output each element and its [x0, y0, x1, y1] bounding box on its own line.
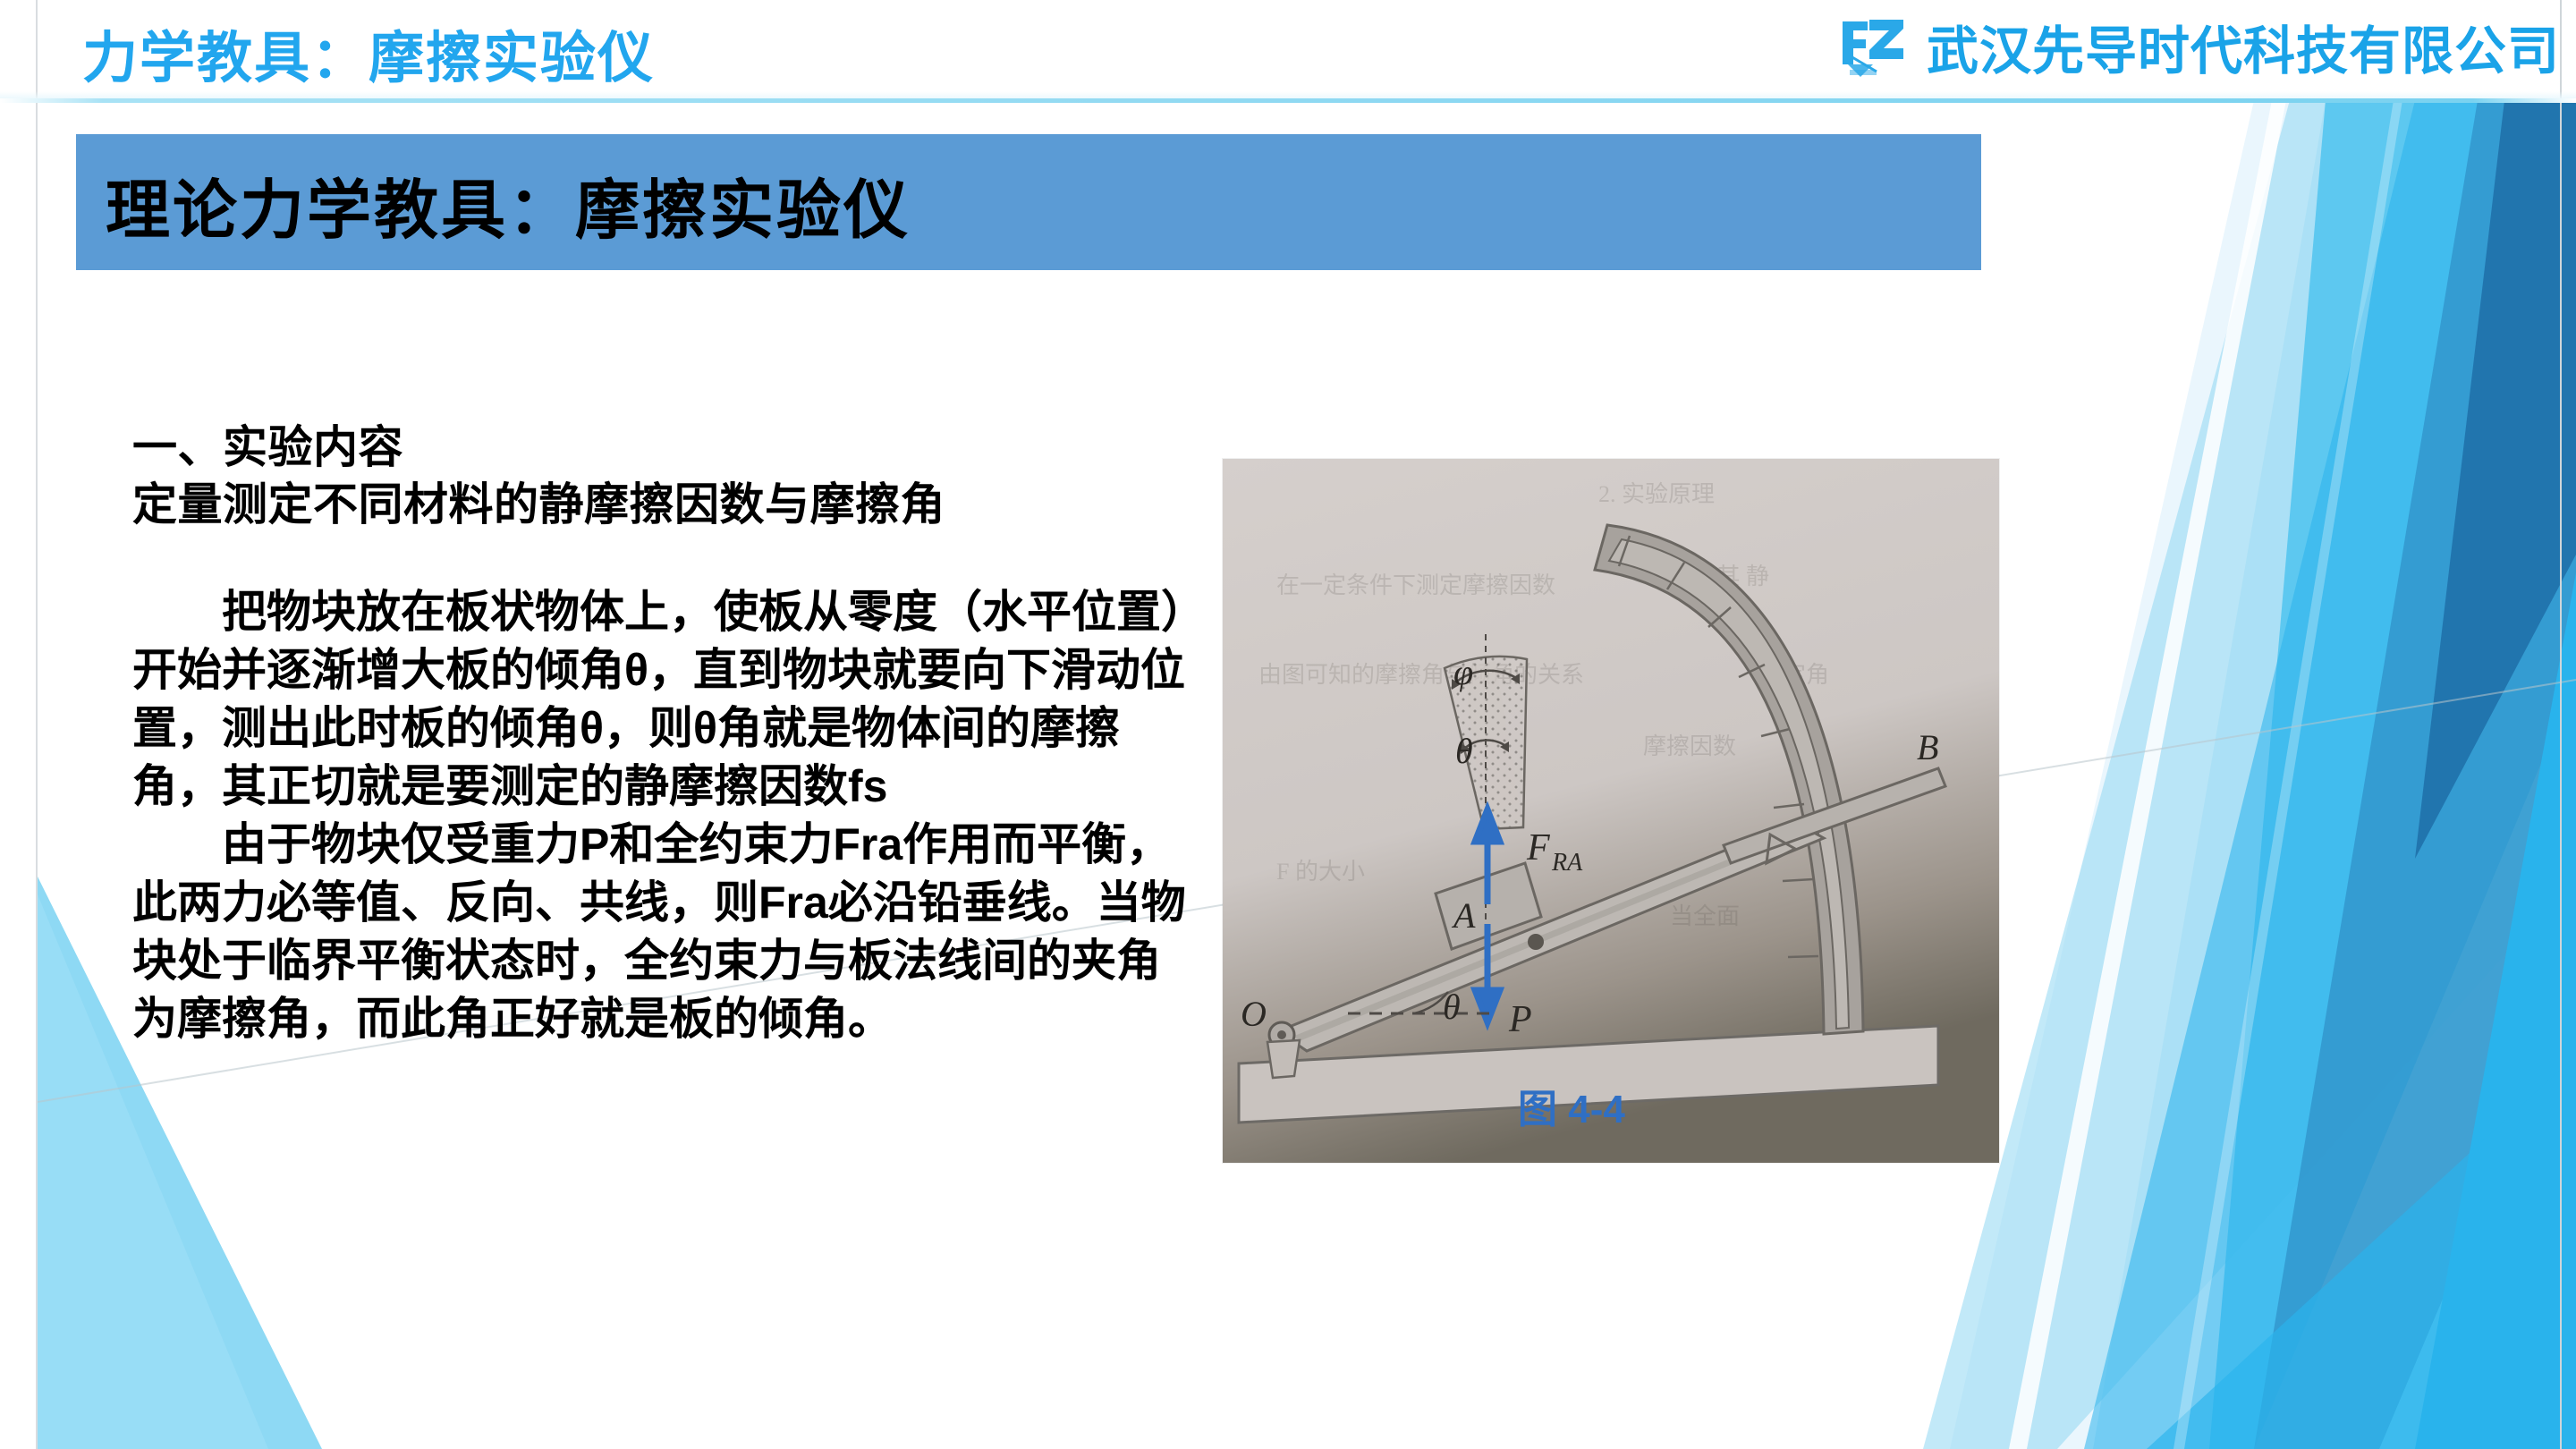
- svg-text:F 的大小: F 的大小: [1276, 859, 1365, 885]
- svg-text:图 4-4: 图 4-4: [1518, 1088, 1625, 1131]
- figure-label-FRA: F: [1526, 827, 1550, 869]
- section-heading-block: 一、实验内容 定量测定不同材料的静摩擦因数与摩擦角: [132, 419, 1188, 533]
- background-polygons-right: [1923, 100, 2576, 1449]
- svg-text:RA: RA: [1551, 849, 1583, 877]
- figure-label-phi: φ: [1453, 652, 1473, 692]
- header-title: 力学教具：摩擦实验仪: [82, 13, 655, 93]
- right-margin-rule: [2560, 0, 2562, 1449]
- company-name: 武汉先导时代科技有限公司: [1927, 9, 2560, 84]
- figure-caption: 图 4-4: [1518, 1088, 1625, 1131]
- figure-label-theta-base: θ: [1443, 987, 1461, 1027]
- section-heading: 一、实验内容: [132, 419, 1188, 476]
- slide-title-banner: 理论力学教具：摩擦实验仪: [76, 134, 1981, 270]
- body-paragraph-2: 由于物块仅受重力P和全约束力Fra作用而平衡，此两力必等值、反向、共线，则Fra…: [132, 816, 1188, 1048]
- figure-label-theta-cone: θ: [1455, 731, 1473, 771]
- slide-title-text: 理论力学教具：摩擦实验仪: [106, 157, 911, 251]
- company-brand: 武汉先导时代科技有限公司: [1837, 9, 2560, 84]
- svg-text:在一定条件下测定摩擦因数: 在一定条件下测定摩擦因数: [1276, 572, 1555, 598]
- header-rule: [0, 98, 2576, 103]
- figure-label-P: P: [1508, 999, 1532, 1040]
- svg-text:摩擦因数: 摩擦因数: [1643, 733, 1736, 759]
- svg-text:当全面: 当全面: [1670, 903, 1740, 929]
- figure-label-A: A: [1451, 895, 1476, 936]
- figure-label-B: B: [1917, 727, 1938, 767]
- svg-text:2. 实验原理: 2. 实验原理: [1598, 481, 1715, 507]
- slide-header: 力学教具：摩擦实验仪 武汉先导时代科技有限公司: [0, 0, 2576, 100]
- left-margin-rule: [36, 0, 38, 1449]
- body-paragraph-1: 把物块放在板状物体上，使板从零度（水平位置）开始并逐渐增大板的倾角θ，直到物块就…: [132, 583, 1188, 816]
- svg-text:由图可知的摩擦角与倾角的关系: 由图可知的摩擦角与倾角的关系: [1258, 662, 1584, 688]
- friction-apparatus-figure: 2. 实验原理 在一定条件下测定摩擦因数 平 其 静 由图可知的摩擦角与倾角的关…: [1223, 459, 1999, 1163]
- presentation-slide: 力学教具：摩擦实验仪 武汉先导时代科技有限公司 理论力学教具：摩擦实验仪 一、实…: [0, 0, 2576, 1449]
- section-subheading: 定量测定不同材料的静摩擦因数与摩擦角: [132, 476, 1188, 533]
- slide-body: 一、实验内容 定量测定不同材料的静摩擦因数与摩擦角 把物块放在板状物体上，使板从…: [132, 419, 1188, 1048]
- company-logo-icon: [1837, 13, 1914, 80]
- figure-label-O: O: [1241, 994, 1267, 1034]
